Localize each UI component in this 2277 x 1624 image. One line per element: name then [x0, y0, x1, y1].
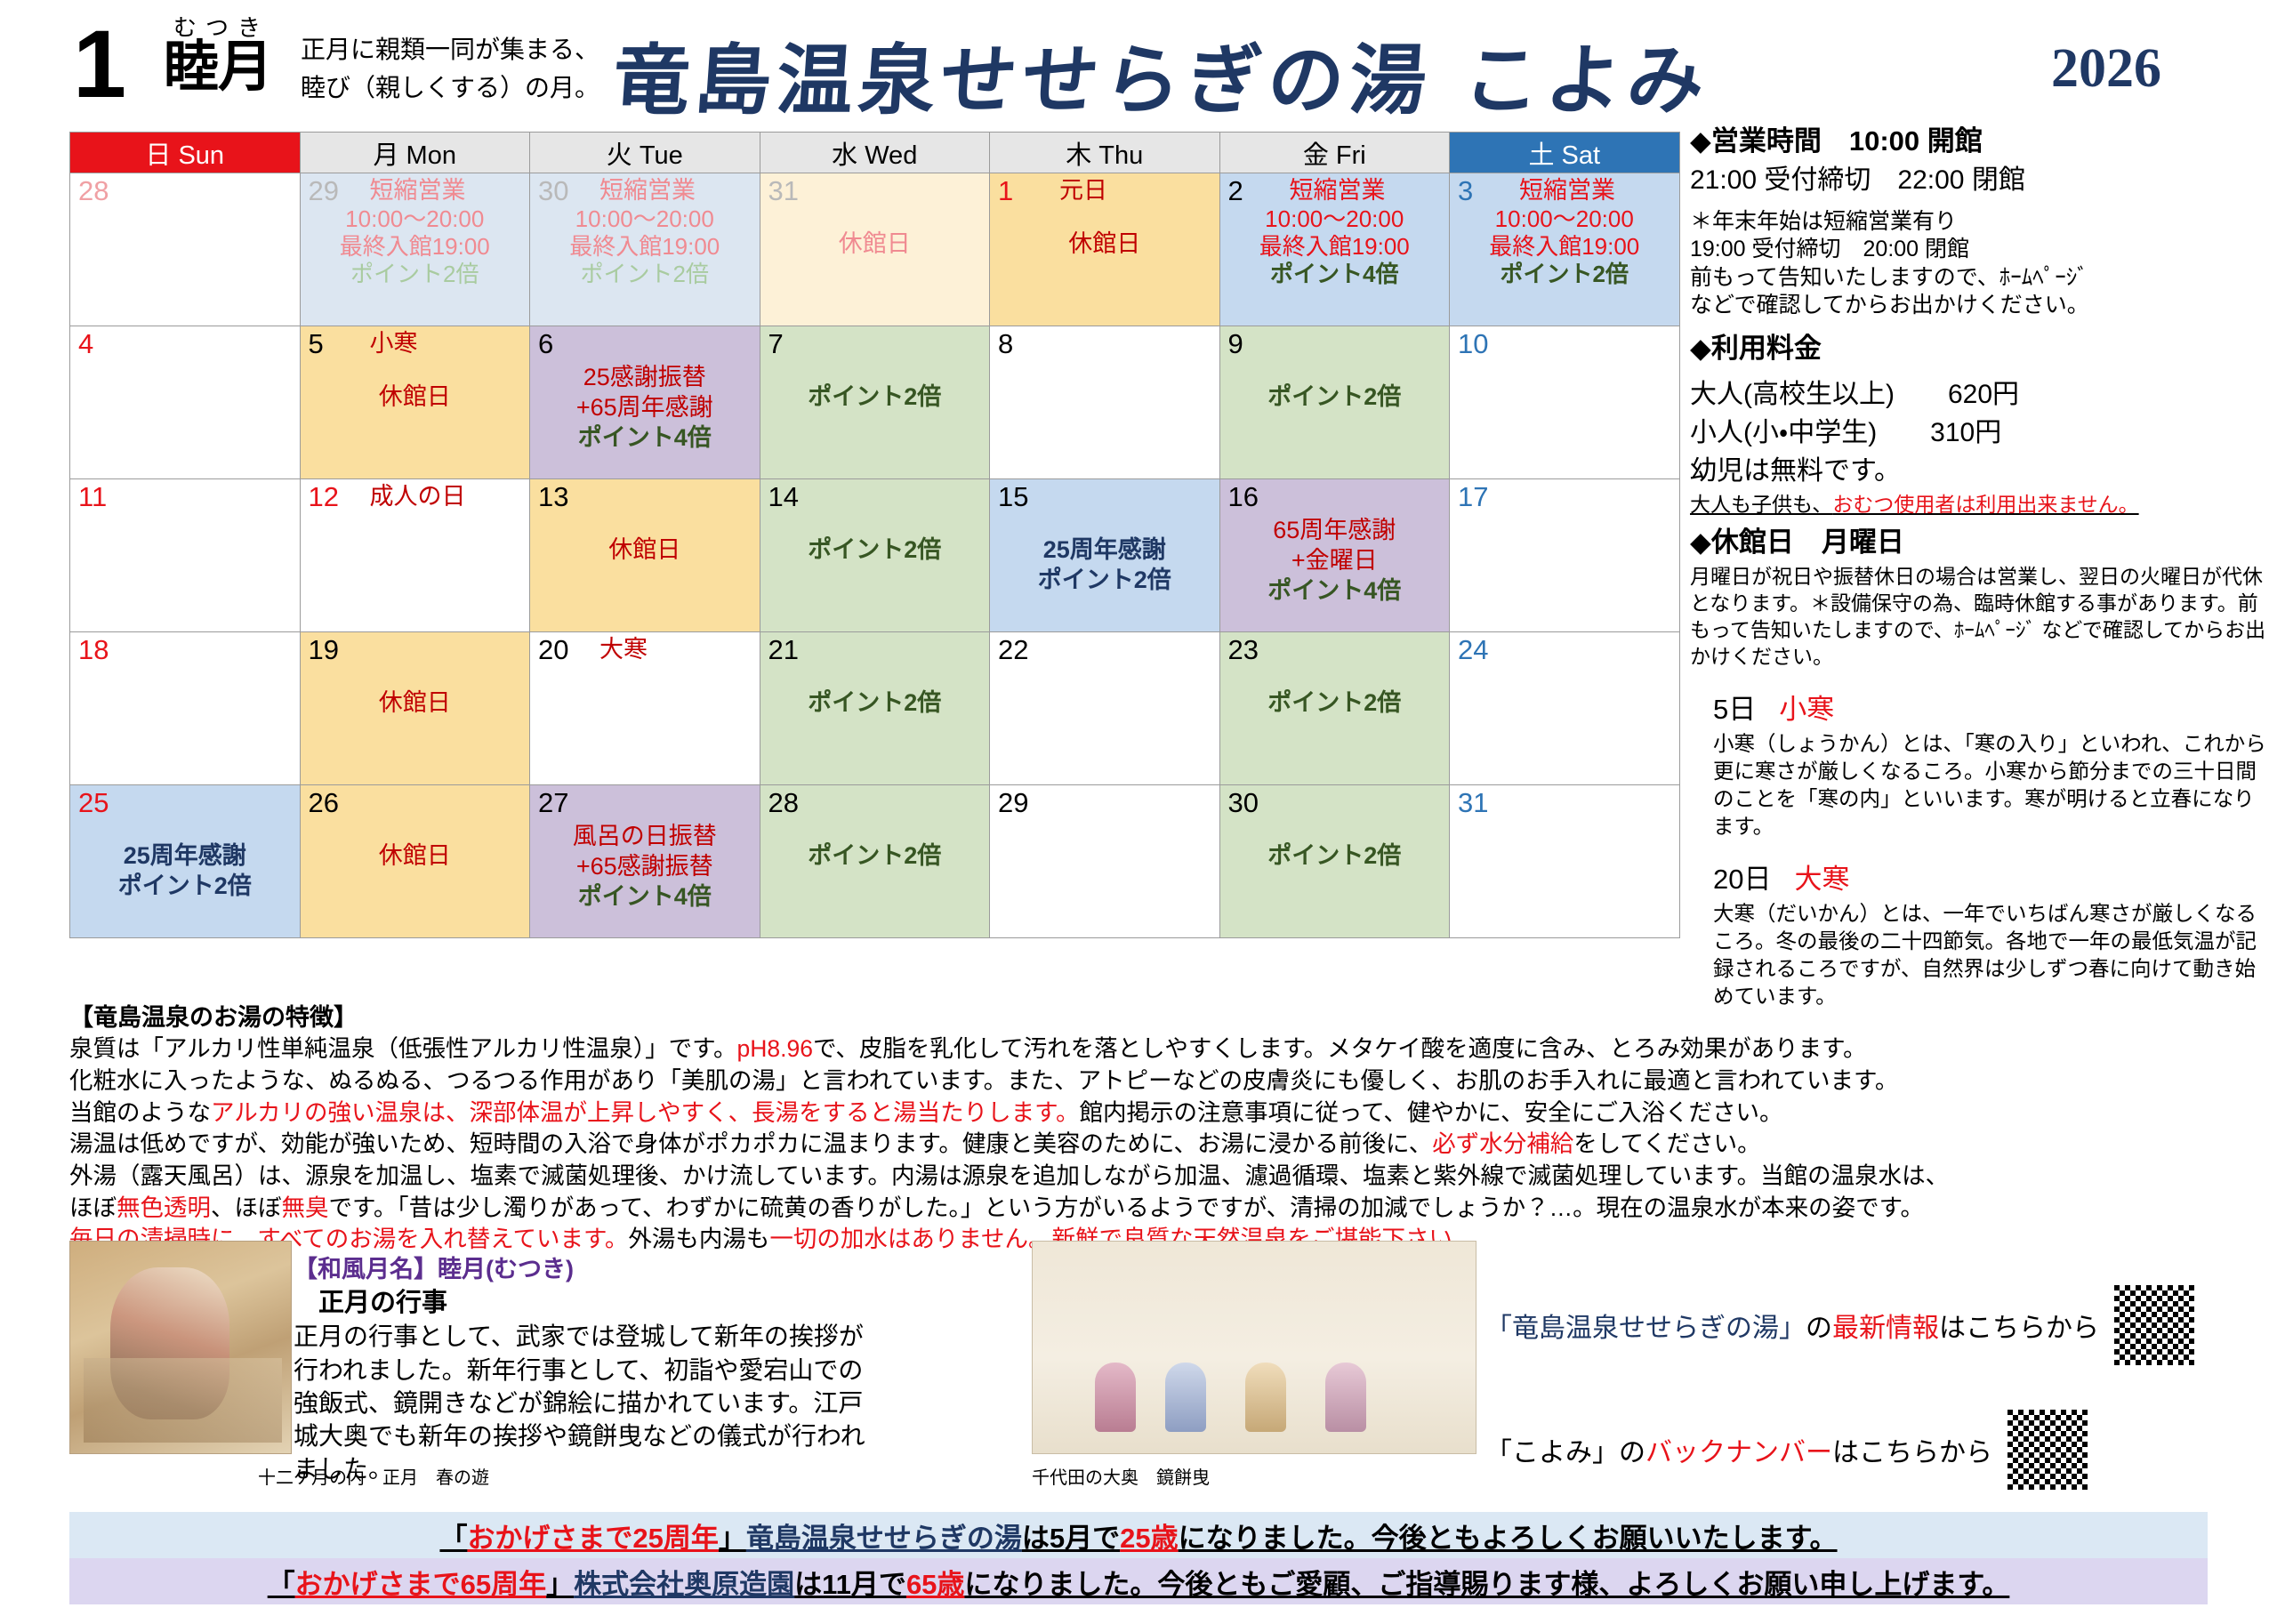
qr-label-koyomi: 「こよみ」 — [1485, 1430, 1619, 1469]
sekki-heading-1: 5日小寒 — [1713, 687, 2268, 727]
qr-code-latest-info-icon[interactable] — [2112, 1282, 2197, 1368]
banner2-tail-text: になりました。今後ともご愛顧、ご指導賜ります様、よろしくお願い申し上げます。 — [964, 1562, 2009, 1602]
day-notes: ポイント2倍 — [760, 687, 990, 718]
day-cell-22[interactable]: 22 — [990, 632, 1220, 785]
figure-shape — [1245, 1363, 1286, 1432]
day-cell-2[interactable]: 2 短縮営業 10:00～20:00 最終入館19:00 ポイント4倍 — [1219, 173, 1450, 326]
onsen-description-line-4: 湯温は低めですが、効能が強いため、短時間の入浴で身体がポカポカに温まります。健康… — [69, 1129, 2204, 1161]
day-number: 27 — [538, 788, 568, 818]
day-cell-17[interactable]: 17 — [1450, 479, 1680, 632]
month-description-line-1: 正月に親類一同が集まる、 — [301, 30, 599, 68]
day-note-line: 最終入館19:00 — [530, 233, 760, 261]
fee-heading: ◆利用料金 — [1690, 332, 2268, 365]
banner-age-25: 25歳 — [1120, 1515, 1178, 1556]
calendar-week-row: 25 25周年感謝 ポイント2倍 26 休館日 27 風呂の日振替 — [70, 785, 1680, 938]
business-hours-note-4: などで確認してからお出かけください。 — [1690, 292, 2268, 319]
day-notes: 休館日 — [301, 382, 530, 412]
day-cell-14[interactable]: 14 ポイント2倍 — [760, 479, 990, 632]
day-number: 12 — [309, 482, 339, 512]
desc-text: 泉質は「アルカリ性単純温泉（低張性アルカリ性温泉）」です。 — [69, 1035, 736, 1062]
day-cell-19[interactable]: 19 休館日 — [300, 632, 530, 785]
day-number: 30 — [1228, 788, 1259, 818]
day-number: 18 — [78, 635, 109, 665]
qr-label-no: の — [1806, 1306, 1832, 1345]
banner-age-65: 65歳 — [906, 1562, 964, 1602]
calendar-week-row: 18 19 休館日 20 大寒 21 ポイント2倍 — [70, 632, 1680, 785]
day-number: 26 — [309, 788, 339, 818]
page-title: 竜島温泉せせらぎの湯 こよみ — [610, 18, 1714, 129]
desc-hydration: 必ず水分補給 — [1432, 1130, 1573, 1157]
day-number: 17 — [1458, 482, 1488, 512]
day-note-line: 10:00～20:00 — [530, 205, 760, 233]
desc-no-water-added: 一切の加水はありません。 — [769, 1226, 1051, 1252]
qr-row-back-number[interactable]: 「こよみ」 の バックナンバー はこちらから — [1485, 1407, 2268, 1492]
closed-days-heading: ◆休館日 月曜日 — [1690, 526, 2268, 559]
day-note-line: ポイント2倍 — [760, 687, 990, 718]
day-cell-8[interactable]: 8 — [990, 326, 1220, 479]
day-note-line: 休館日 — [530, 535, 760, 565]
business-hours-note-3: 前もって告知いたしますので、ﾎｰﾑﾍﾟｰｼﾞ — [1690, 264, 2268, 292]
day-number: 30 — [538, 176, 568, 206]
anniversary-banner-65: 「おかげさまで65周年」株式会社奥原造園は11月で65歳になりました。今後ともご… — [69, 1558, 2208, 1604]
day-number: 6 — [538, 329, 553, 359]
day-event-label: 短縮営業 — [1519, 177, 1615, 205]
figure-shape — [1165, 1363, 1206, 1432]
calendar-week-row: 11 12 成人の日 13 休館日 14 ポイント2倍 — [70, 479, 1680, 632]
day-number: 25 — [78, 788, 109, 818]
day-notes: 休館日 — [760, 229, 990, 259]
banner-65-anniversary: おかげさまで65周年 — [295, 1562, 546, 1602]
day-note-line: ポイント2倍 — [1450, 261, 1679, 288]
day-note-line: 10:00～20:00 — [301, 205, 530, 233]
weekday-header-sat: 土 Sat — [1450, 133, 1680, 173]
day-event-label: 元日 — [1059, 177, 1107, 205]
day-number: 19 — [309, 635, 339, 665]
day-cell-4[interactable]: 4 — [70, 326, 301, 479]
page-header: 1 むつき 睦月 正月に親類一同が集まる、 睦び（親しくする）の月。 竜島温泉せ… — [0, 0, 2277, 129]
day-number: 11 — [78, 482, 107, 512]
desc-text: 、ほぼ — [211, 1194, 282, 1221]
article-subtitle: 正月の行事 — [318, 1286, 881, 1321]
closed-days-body: 月曜日が祝日や振替休日の場合は営業し、翌日の火曜日が代休となります。＊設備保守の… — [1690, 564, 2268, 671]
figure-shape — [1095, 1363, 1136, 1432]
figure-shape — [1325, 1363, 1366, 1432]
day-notes: 休館日 — [990, 229, 1219, 259]
day-notes: 25周年感謝 ポイント2倍 — [70, 840, 300, 901]
qr-code-back-number-icon[interactable] — [2005, 1407, 2090, 1492]
onsen-description-heading: 【竜島温泉のお湯の特徴】 — [69, 1001, 2204, 1033]
day-number: 16 — [1228, 482, 1259, 512]
day-note-line: ポイント4倍 — [530, 422, 760, 453]
desc-odorless: 無臭 — [282, 1194, 329, 1221]
day-cell-11[interactable]: 11 — [70, 479, 301, 632]
day-number: 23 — [1228, 635, 1259, 665]
info-panel: ◆営業時間 10:00 開館 21:00 受付締切 22:00 閉館 ＊年末年始… — [1690, 125, 2268, 1010]
qr-label-highlight-2: バックナンバー — [1645, 1430, 1832, 1469]
month-kanji: 睦月 — [156, 39, 280, 95]
day-notes: 65周年感謝 +金曜日 ポイント4倍 — [1220, 515, 1450, 606]
day-note-line: ポイント2倍 — [530, 261, 760, 288]
day-cell-15[interactable]: 15 25周年感謝 ポイント2倍 — [990, 479, 1220, 632]
day-note-line: 休館日 — [301, 840, 530, 871]
day-cell-12[interactable]: 12 成人の日 — [300, 479, 530, 632]
day-cell-1[interactable]: 1 元日 休館日 — [990, 173, 1220, 326]
day-cell-27[interactable]: 27 風呂の日振替 +65感謝振替 ポイント4倍 — [530, 785, 760, 938]
day-cell-25[interactable]: 25 25周年感謝 ポイント2倍 — [70, 785, 301, 938]
qr-label-highlight: 最新情報 — [1832, 1306, 1939, 1345]
banner-brand-name: 竜島温泉せせらぎの湯 — [746, 1515, 1022, 1556]
day-note-line: +65感謝振替 — [530, 851, 760, 881]
calendar-table: 日 Sun 月 Mon 火 Tue 水 Wed 木 Thu 金 Fri 土 Sa… — [69, 132, 1680, 938]
day-notes: 休館日 — [301, 840, 530, 871]
month-number: 1 — [73, 16, 126, 112]
day-notes: 25感謝振替 +65周年感謝 ポイント4倍 — [530, 362, 760, 453]
day-number: 7 — [768, 329, 784, 359]
fee-restriction-note: 大人も子供も、おむつ使用者は利用出来ません。 — [1690, 492, 2268, 519]
day-notes: 10:00～20:00 最終入館19:00 ポイント2倍 — [1450, 205, 1679, 289]
day-event-label: 短縮営業 — [370, 177, 466, 205]
day-number: 4 — [78, 329, 93, 359]
day-notes: 休館日 — [530, 535, 760, 565]
day-number: 28 — [768, 788, 799, 818]
sekki-name-2: 大寒 — [1794, 864, 1849, 895]
day-number: 31 — [768, 176, 799, 206]
weekday-header-thu: 木 Thu — [990, 133, 1220, 173]
day-notes: ポイント2倍 — [760, 382, 990, 412]
day-note-line: ポイント2倍 — [760, 535, 990, 565]
day-note-line: +65周年感謝 — [530, 392, 760, 422]
calendar-header-row: 日 Sun 月 Mon 火 Tue 水 Wed 木 Thu 金 Fri 土 Sa… — [70, 133, 1680, 173]
day-cell-23[interactable]: 23 ポイント2倍 — [1219, 632, 1450, 785]
ukiyoe-image-left — [69, 1241, 292, 1454]
calendar-body: 28 29 短縮営業 10:00～20:00 最終入館19:00 ポイント2倍 … — [70, 173, 1680, 938]
day-cell-dec29[interactable]: 29 短縮営業 10:00～20:00 最終入館19:00 ポイント2倍 — [300, 173, 530, 326]
anniversary-banner-25: 「おかげさまで25周年」竜島温泉せせらぎの湯は5月で25歳になりました。今後とも… — [69, 1512, 2208, 1558]
day-note-line: ポイント2倍 — [760, 840, 990, 871]
day-number: 8 — [998, 329, 1013, 359]
day-note-line: ポイント4倍 — [1220, 575, 1450, 606]
day-cell-24[interactable]: 24 — [1450, 632, 1680, 785]
day-number: 9 — [1228, 329, 1243, 359]
calendar-page: 1 むつき 睦月 正月に親類一同が集まる、 睦び（親しくする）の月。 竜島温泉せ… — [0, 0, 2277, 1624]
desc-text: をしてください。 — [1573, 1130, 1760, 1157]
day-cell-16[interactable]: 16 65周年感謝 +金曜日 ポイント4倍 — [1219, 479, 1450, 632]
banner2-close-quote: 」 — [546, 1562, 574, 1602]
onsen-description-line-6: ほぼ無色透明、ほぼ無臭です。「昔は少し濁りがあって、わずかに硫黄の香りがした。」… — [69, 1193, 2204, 1225]
day-cell-20[interactable]: 20 大寒 — [530, 632, 760, 785]
fee-restriction-highlight: おむつ使用者は利用出来ません。 — [1832, 493, 2138, 516]
banner-middle-text: は5月で — [1022, 1515, 1120, 1556]
qr-label-tail: はこちらから — [1939, 1306, 2099, 1345]
day-event-label: 成人の日 — [370, 483, 466, 511]
day-number: 13 — [538, 482, 568, 512]
onsen-description-line-3: 当館のようなアルカリの強い温泉は、深部体温が上昇しやすく、長湯をすると湯当たりし… — [69, 1097, 2204, 1130]
banner2-middle-text: は11月で — [794, 1562, 906, 1602]
day-note-line: ポイント2倍 — [990, 565, 1219, 595]
day-event-label: 短縮営業 — [1290, 177, 1386, 205]
day-cell-9[interactable]: 9 ポイント2倍 — [1219, 326, 1450, 479]
day-note-line: ポイント2倍 — [1220, 382, 1450, 412]
onsen-description-line-1: 泉質は「アルカリ性単純温泉（低張性アルカリ性温泉）」です。pH8.96で、皮脂を… — [69, 1033, 2204, 1065]
day-note-line: ポイント4倍 — [1220, 261, 1450, 288]
day-event-label: 短縮営業 — [599, 177, 696, 205]
day-notes: 10:00～20:00 最終入館19:00 ポイント2倍 — [301, 205, 530, 289]
sekki-name-1: 小寒 — [1779, 694, 1834, 725]
day-cell-13[interactable]: 13 休館日 — [530, 479, 760, 632]
month-description-line-2: 睦び（親しくする）の月。 — [301, 68, 599, 107]
day-number: 5 — [309, 329, 324, 359]
day-note-line: 10:00～20:00 — [1450, 205, 1679, 233]
day-number: 28 — [78, 176, 109, 206]
month-japanese-name-block: むつき 睦月 — [156, 16, 280, 95]
day-cell-31[interactable]: 31 休館日 — [760, 173, 990, 326]
article-body: 正月の行事として、武家では登城して新年の挨拶が行われました。新年行事として、初詣… — [294, 1320, 881, 1485]
day-note-line: ポイント2倍 — [1220, 840, 1450, 871]
weekday-header-fri: 金 Fri — [1219, 133, 1450, 173]
day-note-line: ポイント2倍 — [760, 382, 990, 412]
day-number: 10 — [1458, 329, 1488, 359]
banner-25-anniversary: おかげさまで25周年 — [467, 1515, 718, 1556]
day-note-line: 25周年感謝 — [990, 535, 1219, 565]
desc-ph-value: pH8.96 — [736, 1035, 812, 1062]
qr-label-tail-2: はこちらから — [1832, 1430, 1992, 1469]
weekday-header-sun: 日 Sun — [70, 133, 301, 173]
onsen-description-line-5: 外湯（露天風呂）は、源泉を加温し、塩素で滅菌処理後、かけ流しています。内湯は源泉… — [69, 1161, 2204, 1193]
month-description: 正月に親類一同が集まる、 睦び（親しくする）の月。 — [301, 30, 599, 108]
day-cell-29[interactable]: 29 — [990, 785, 1220, 938]
day-cell-31[interactable]: 31 — [1450, 785, 1680, 938]
qr-label-brand: 「竜島温泉せせらぎの湯」 — [1485, 1306, 1806, 1345]
article-block: 【和風月名】睦月(むつき) 正月の行事 正月の行事として、武家では登城して新年の… — [294, 1254, 881, 1486]
day-number: 2 — [1228, 176, 1243, 206]
sekki-heading-2: 20日大寒 — [1713, 856, 2268, 896]
calendar-week-row: 28 29 短縮営業 10:00～20:00 最終入館19:00 ポイント2倍 … — [70, 173, 1680, 326]
day-note-line: ポイント2倍 — [70, 871, 300, 901]
business-hours-heading: ◆営業時間 10:00 開館 — [1690, 125, 2268, 157]
business-hours-note-2: 19:00 受付締切 20:00 閉館 — [1690, 236, 2268, 263]
year-label: 2026 — [2051, 37, 2161, 100]
ukiyoe-image-right — [1032, 1241, 1476, 1454]
banner-tail-text: になりました。今後ともよろしくお願いいたします。 — [1179, 1515, 1838, 1556]
day-notes: ポイント2倍 — [1220, 687, 1450, 718]
day-cell-dec30[interactable]: 30 短縮営業 10:00～20:00 最終入館19:00 ポイント2倍 — [530, 173, 760, 326]
sekki-body-1: 小寒（しょうかん）とは、「寒の入り」といわれ、これから更に寒さが厳しくなるころ。… — [1713, 730, 2268, 840]
qr-label-no-2: の — [1619, 1430, 1645, 1469]
day-number: 14 — [768, 482, 799, 512]
fee-restriction-prefix: 大人も子供も、 — [1690, 493, 1832, 516]
day-number: 1 — [998, 176, 1013, 206]
day-notes: ポイント2倍 — [1220, 382, 1450, 412]
desc-text: 外湯も内湯も — [628, 1226, 769, 1252]
banner-close-quote: 」 — [719, 1515, 746, 1556]
day-notes: 休館日 — [301, 687, 530, 718]
day-note-line: ポイント2倍 — [301, 261, 530, 288]
day-event-label: 小寒 — [370, 330, 418, 358]
day-number: 20 — [538, 635, 568, 665]
calendar-week-row: 4 5 小寒 休館日 6 25感謝振替 +65周年感謝 ポイント4倍 — [70, 326, 1680, 479]
sekki-day-2: 20日 — [1713, 864, 1771, 895]
onsen-description-line-2: 化粧水に入ったような、ぬるぬる、つるつる作用があり「美肌の湯」と言われています。… — [69, 1065, 2204, 1097]
day-note-line: 風呂の日振替 — [530, 821, 760, 851]
day-cell-26[interactable]: 26 休館日 — [300, 785, 530, 938]
desc-text: 当館のような — [69, 1099, 211, 1126]
day-event-label: 大寒 — [599, 636, 648, 663]
day-cell-7[interactable]: 7 ポイント2倍 — [760, 326, 990, 479]
day-number: 15 — [998, 482, 1028, 512]
weekday-header-wed: 水 Wed — [760, 133, 990, 173]
day-note-line: 休館日 — [301, 382, 530, 412]
day-cell-28[interactable]: 28 ポイント2倍 — [760, 785, 990, 938]
day-notes: 10:00～20:00 最終入館19:00 ポイント2倍 — [530, 205, 760, 289]
banner2-open-quote: 「 — [268, 1562, 295, 1602]
day-note-line: 休館日 — [760, 229, 990, 259]
ukiyoe-caption-right: 千代田の大奥 鏡餅曳 — [1032, 1463, 1210, 1489]
day-number: 31 — [1458, 788, 1488, 818]
day-notes: ポイント2倍 — [760, 535, 990, 565]
day-notes: 10:00～20:00 最終入館19:00 ポイント4倍 — [1220, 205, 1450, 289]
day-note-line: 休館日 — [301, 687, 530, 718]
desc-warning: アルカリの強い温泉は、深部体温が上昇しやすく、長湯をすると湯当たりします。 — [211, 1099, 1080, 1126]
fee-child: 小人(小・中学生) 310円 — [1690, 415, 2268, 450]
onsen-description: 【竜島温泉のお湯の特徴】 泉質は「アルカリ性単純温泉（低張性アルカリ性温泉）」で… — [69, 1001, 2204, 1256]
day-cell-21[interactable]: 21 ポイント2倍 — [760, 632, 990, 785]
business-hours-note-1: ＊年末年始は短縮営業有り — [1690, 208, 2268, 236]
day-cell-18[interactable]: 18 — [70, 632, 301, 785]
day-cell-6[interactable]: 6 25感謝振替 +65周年感謝 ポイント4倍 — [530, 326, 760, 479]
day-notes: 25周年感謝 ポイント2倍 — [990, 535, 1219, 595]
desc-text: で、皮脂を乳化して汚れを落としやすくします。メタケイ酸を適度に含み、とろみ効果が… — [813, 1035, 1867, 1062]
day-note-line: 65周年感謝 — [1220, 515, 1450, 545]
day-note-line: 最終入館19:00 — [1450, 233, 1679, 261]
fee-infant: 幼児は無料です。 — [1690, 454, 2268, 488]
banner-open-quote: 「 — [439, 1515, 467, 1556]
day-note-line: +金曜日 — [1220, 545, 1450, 575]
day-number: 29 — [998, 788, 1028, 818]
day-cell-dec28[interactable]: 28 — [70, 173, 301, 326]
day-number: 22 — [998, 635, 1028, 665]
day-number: 3 — [1458, 176, 1473, 206]
day-notes: ポイント2倍 — [760, 840, 990, 871]
desc-text: 湯温は低めですが、効能が強いため、短時間の入浴で身体がポカポカに温まります。健康… — [69, 1130, 1432, 1157]
desc-text: 館内掲示の注意事項に従って、健やかに、安全にご入浴ください。 — [1080, 1099, 1783, 1126]
article-title: 【和風月名】睦月(むつき) — [294, 1254, 881, 1286]
day-note-line: 最終入館19:00 — [301, 233, 530, 261]
day-note-line: 最終入館19:00 — [1220, 233, 1450, 261]
day-note-line: ポイント4倍 — [530, 881, 760, 912]
qr-row-latest-info[interactable]: 「竜島温泉せせらぎの湯」 の 最新情報 はこちらから — [1485, 1282, 2268, 1368]
desc-clear: 無色透明 — [117, 1194, 211, 1221]
day-cell-30[interactable]: 30 ポイント2倍 — [1219, 785, 1450, 938]
day-cell-3[interactable]: 3 短縮営業 10:00～20:00 最終入館19:00 ポイント2倍 — [1450, 173, 1680, 326]
day-notes: ポイント2倍 — [1220, 840, 1450, 871]
day-note-line: 10:00～20:00 — [1220, 205, 1450, 233]
day-note-line: 25感謝振替 — [530, 362, 760, 392]
sekki-body-2: 大寒（だいかん）とは、一年でいちばん寒さが厳しくなるころ。冬の最後の二十四節気。… — [1713, 900, 2268, 1010]
day-note-line: ポイント2倍 — [1220, 687, 1450, 718]
day-cell-10[interactable]: 10 — [1450, 326, 1680, 479]
day-number: 29 — [309, 176, 339, 206]
fee-adult: 大人(高校生以上) 620円 — [1690, 377, 2268, 412]
business-hours-line: 21:00 受付締切 22:00 閉館 — [1690, 163, 2268, 197]
day-note-line: 休館日 — [990, 229, 1219, 259]
day-notes: 風呂の日振替 +65感謝振替 ポイント4倍 — [530, 821, 760, 912]
weekday-header-mon: 月 Mon — [300, 133, 530, 173]
desc-text: です。「昔は少し濁りがあって、わずかに硫黄の香りがした。」という方がいるようです… — [329, 1194, 1925, 1221]
banner-company-name: 株式会社奥原造園 — [574, 1562, 794, 1602]
day-cell-5[interactable]: 5 小寒 休館日 — [300, 326, 530, 479]
qr-section: 「竜島温泉せせらぎの湯」 の 最新情報 はこちらから 「こよみ」 の バックナン… — [1485, 1282, 2268, 1532]
day-note-line: 25周年感謝 — [70, 840, 300, 871]
desc-text: ほぼ — [69, 1194, 117, 1221]
day-number: 24 — [1458, 635, 1488, 665]
weekday-header-tue: 火 Tue — [530, 133, 760, 173]
sekki-day-1: 5日 — [1713, 694, 1756, 725]
day-number: 21 — [768, 635, 799, 665]
